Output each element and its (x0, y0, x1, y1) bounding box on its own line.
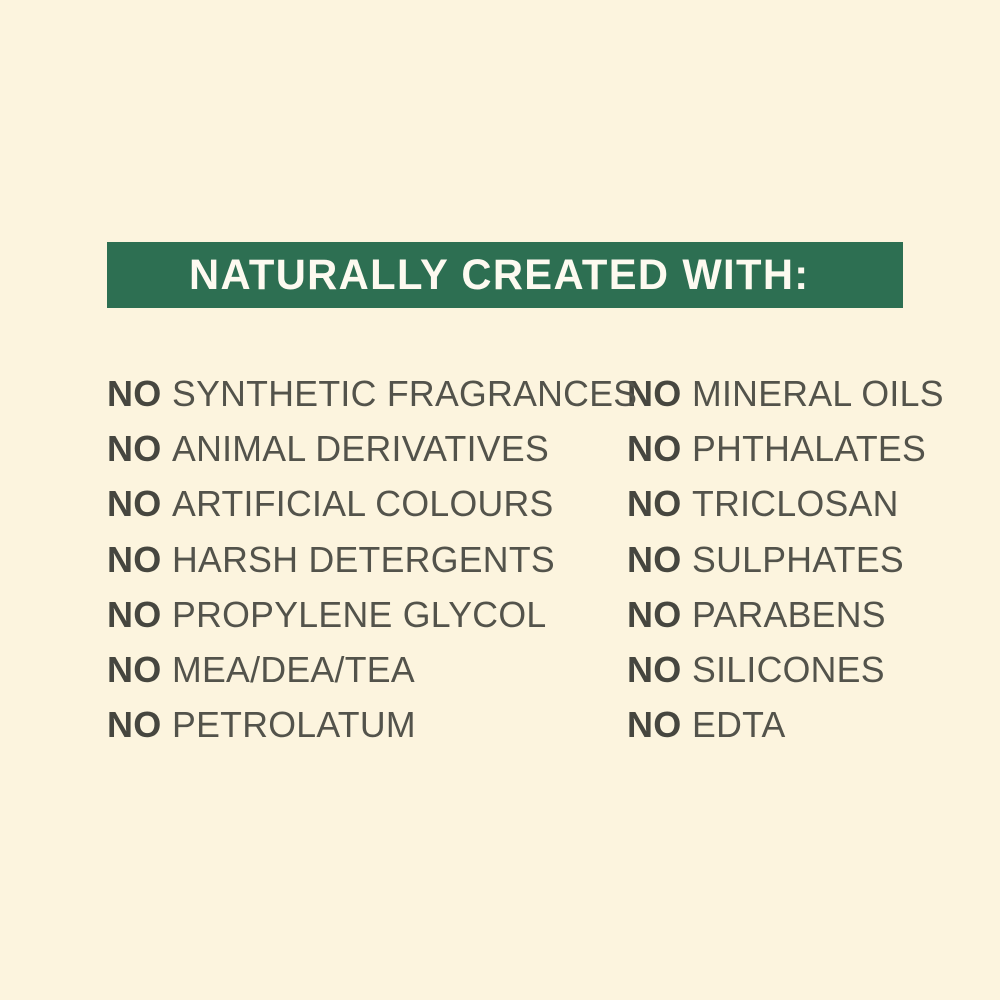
claim-prefix: NO (107, 431, 161, 467)
claim-prefix: NO (107, 597, 161, 633)
claim-item: NO PARABENS (627, 587, 957, 642)
claim-item: NO PHTHALATES (627, 421, 957, 476)
claim-label: PETROLATUM (172, 707, 416, 743)
claims-list: NO SYNTHETIC FRAGRANCES NO ANIMAL DERIVA… (0, 366, 1000, 753)
claim-item: NO EDTA (627, 698, 957, 753)
claim-prefix: NO (627, 597, 681, 633)
claim-item: NO HARSH DETERGENTS (107, 532, 627, 587)
claim-item: NO PETROLATUM (107, 698, 627, 753)
claim-prefix: NO (107, 486, 161, 522)
claim-label: PROPYLENE GLYCOL (172, 597, 546, 633)
claim-label: EDTA (692, 707, 786, 743)
claim-label: ARTIFICIAL COLOURS (172, 486, 554, 522)
claim-prefix: NO (627, 652, 681, 688)
claim-item: NO SULPHATES (627, 532, 957, 587)
claims-column-left: NO SYNTHETIC FRAGRANCES NO ANIMAL DERIVA… (107, 366, 627, 753)
claim-label: SYNTHETIC FRAGRANCES (172, 376, 637, 412)
claim-item: NO MINERAL OILS (627, 366, 957, 421)
banner-naturally-created-with: NATURALLY CREATED WITH: (107, 242, 903, 308)
claim-prefix: NO (107, 376, 161, 412)
claim-label: SULPHATES (692, 542, 904, 578)
claim-item: NO ARTIFICIAL COLOURS (107, 477, 627, 532)
claim-label: TRICLOSAN (692, 486, 899, 522)
claim-prefix: NO (627, 431, 681, 467)
free-from-claims-poster: NATURALLY CREATED WITH: NO SYNTHETIC FRA… (0, 0, 1000, 1000)
claim-item: NO SYNTHETIC FRAGRANCES (107, 366, 627, 421)
claim-prefix: NO (627, 542, 681, 578)
claim-label: SILICONES (692, 652, 885, 688)
claim-prefix: NO (627, 486, 681, 522)
claim-label: PARABENS (692, 597, 886, 633)
claim-item: NO TRICLOSAN (627, 477, 957, 532)
claim-item: NO ANIMAL DERIVATIVES (107, 421, 627, 476)
claim-prefix: NO (107, 542, 161, 578)
banner-title: NATURALLY CREATED WITH: (189, 254, 810, 297)
claim-label: ANIMAL DERIVATIVES (172, 431, 549, 467)
claim-item: NO MEA/DEA/TEA (107, 642, 627, 697)
claim-label: MEA/DEA/TEA (172, 652, 415, 688)
claim-label: HARSH DETERGENTS (172, 542, 555, 578)
claim-label: MINERAL OILS (692, 376, 944, 412)
claim-item: NO SILICONES (627, 642, 957, 697)
claims-column-right: NO MINERAL OILS NO PHTHALATES NO TRICLOS… (627, 366, 957, 753)
claim-prefix: NO (107, 652, 161, 688)
claim-prefix: NO (627, 707, 681, 743)
claim-label: PHTHALATES (692, 431, 926, 467)
claim-item: NO PROPYLENE GLYCOL (107, 587, 627, 642)
claim-prefix: NO (107, 707, 161, 743)
